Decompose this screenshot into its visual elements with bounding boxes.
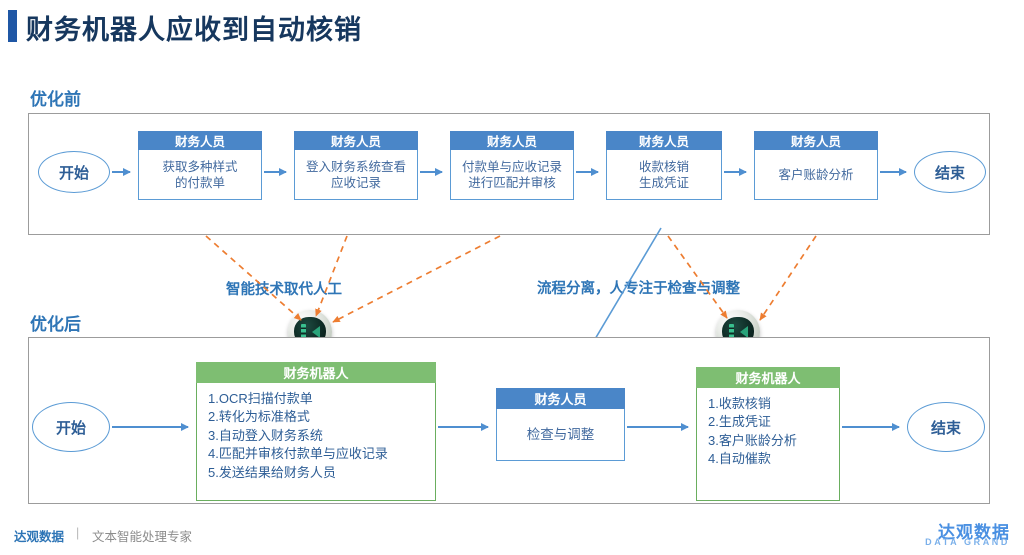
section-label-after: 优化后: [30, 310, 81, 335]
after-robot-box-2-list: 1.收款核销 2.生成凭证 3.客户账龄分析 4.自动催款: [696, 388, 840, 501]
after-robot-box-2-item-1: 1.收款核销: [708, 395, 830, 413]
before-end-node: 结束: [914, 151, 986, 193]
before-step-1-line2: 的付款单: [175, 175, 225, 191]
after-robot-box-1[interactable]: 财务机器人 1.OCR扫描付款单 2.转化为标准格式 3.自动登入财务系统 4.…: [196, 362, 436, 501]
after-arrow-1: [112, 426, 188, 428]
before-step-5-role: 财务人员: [754, 131, 878, 150]
callout-left-label: 智能技术取代人工: [226, 278, 342, 299]
before-step-2-line2: 应收记录: [331, 175, 381, 191]
after-robot-box-2-item-3: 3.客户账龄分析: [708, 432, 830, 450]
before-step-4-line2: 生成凭证: [639, 175, 689, 191]
after-arrow-3: [627, 426, 688, 428]
before-step-3-role: 财务人员: [450, 131, 574, 150]
after-human-box[interactable]: 财务人员 检查与调整: [496, 388, 625, 461]
title-accent-bar: [8, 10, 17, 42]
before-arrow-2: [264, 171, 286, 173]
logo-english: DATA GRAND: [925, 537, 1010, 547]
before-step-2-body: 登入财务系统查看 应收记录: [294, 150, 418, 200]
before-step-1-role: 财务人员: [138, 131, 262, 150]
before-arrow-5: [724, 171, 746, 173]
after-robot-box-1-item-3: 3.自动登入财务系统: [208, 427, 426, 445]
dashed-arrow-3: [333, 236, 500, 322]
after-robot-box-2-item-4: 4.自动催款: [708, 450, 830, 468]
before-arrow-4: [576, 171, 598, 173]
footer-divider: [0, 518, 1024, 519]
after-robot-box-2-item-2: 2.生成凭证: [708, 413, 830, 431]
before-step-1[interactable]: 财务人员 获取多种样式 的付款单: [138, 131, 262, 200]
after-robot-box-1-item-2: 2.转化为标准格式: [208, 408, 426, 426]
after-start-node: 开始: [32, 402, 110, 452]
after-robot-box-1-role: 财务机器人: [196, 362, 436, 383]
before-step-3-line2: 进行匹配并审核: [468, 175, 556, 191]
after-arrow-4: [842, 426, 899, 428]
before-step-3-line1: 付款单与应收记录: [462, 159, 562, 175]
before-step-3[interactable]: 财务人员 付款单与应收记录 进行匹配并审核: [450, 131, 574, 200]
dashed-arrow-2: [316, 236, 347, 316]
footer-tagline: 文本智能处理专家: [92, 526, 192, 545]
after-robot-box-1-list: 1.OCR扫描付款单 2.转化为标准格式 3.自动登入财务系统 4.匹配并审核付…: [196, 383, 436, 501]
after-human-box-text: 检查与调整: [496, 409, 625, 461]
before-step-3-body: 付款单与应收记录 进行匹配并审核: [450, 150, 574, 200]
footer-brand: 达观数据: [14, 526, 64, 545]
before-step-2-role: 财务人员: [294, 131, 418, 150]
slide-canvas: 财务机器人应收到自动核销 优化前 开始 财务人员 获取多种样式 的付款单 财务人…: [0, 0, 1024, 555]
before-step-4[interactable]: 财务人员 收款核销 生成凭证: [606, 131, 722, 200]
after-human-box-role: 财务人员: [496, 388, 625, 409]
before-step-2-line1: 登入财务系统查看: [306, 159, 406, 175]
before-step-1-line1: 获取多种样式: [162, 159, 237, 175]
callout-right-label: 流程分离，人专注于检查与调整: [537, 277, 740, 298]
dashed-arrow-5: [760, 236, 816, 320]
before-step-4-body: 收款核销 生成凭证: [606, 150, 722, 200]
before-step-1-body: 获取多种样式 的付款单: [138, 150, 262, 200]
before-start-node: 开始: [38, 151, 110, 193]
section-label-before: 优化前: [30, 85, 81, 110]
before-arrow-6: [880, 171, 906, 173]
after-robot-box-2-role: 财务机器人: [696, 367, 840, 388]
before-step-4-line1: 收款核销: [639, 159, 689, 175]
after-robot-box-1-item-5: 5.发送结果给财务人员: [208, 464, 426, 482]
after-end-node: 结束: [907, 402, 985, 452]
before-step-5-body: 客户账龄分析: [754, 150, 878, 200]
before-step-4-role: 财务人员: [606, 131, 722, 150]
page-title: 财务机器人应收到自动核销: [26, 8, 362, 47]
after-arrow-2: [438, 426, 488, 428]
after-robot-box-2[interactable]: 财务机器人 1.收款核销 2.生成凭证 3.客户账龄分析 4.自动催款: [696, 367, 840, 501]
footer-separator: |: [76, 526, 79, 540]
before-arrow-3: [420, 171, 442, 173]
after-robot-box-1-item-1: 1.OCR扫描付款单: [208, 390, 426, 408]
before-step-2[interactable]: 财务人员 登入财务系统查看 应收记录: [294, 131, 418, 200]
before-step-5[interactable]: 财务人员 客户账龄分析: [754, 131, 878, 200]
after-robot-box-1-item-4: 4.匹配并审核付款单与应收记录: [208, 445, 426, 463]
before-arrow-1: [112, 171, 130, 173]
